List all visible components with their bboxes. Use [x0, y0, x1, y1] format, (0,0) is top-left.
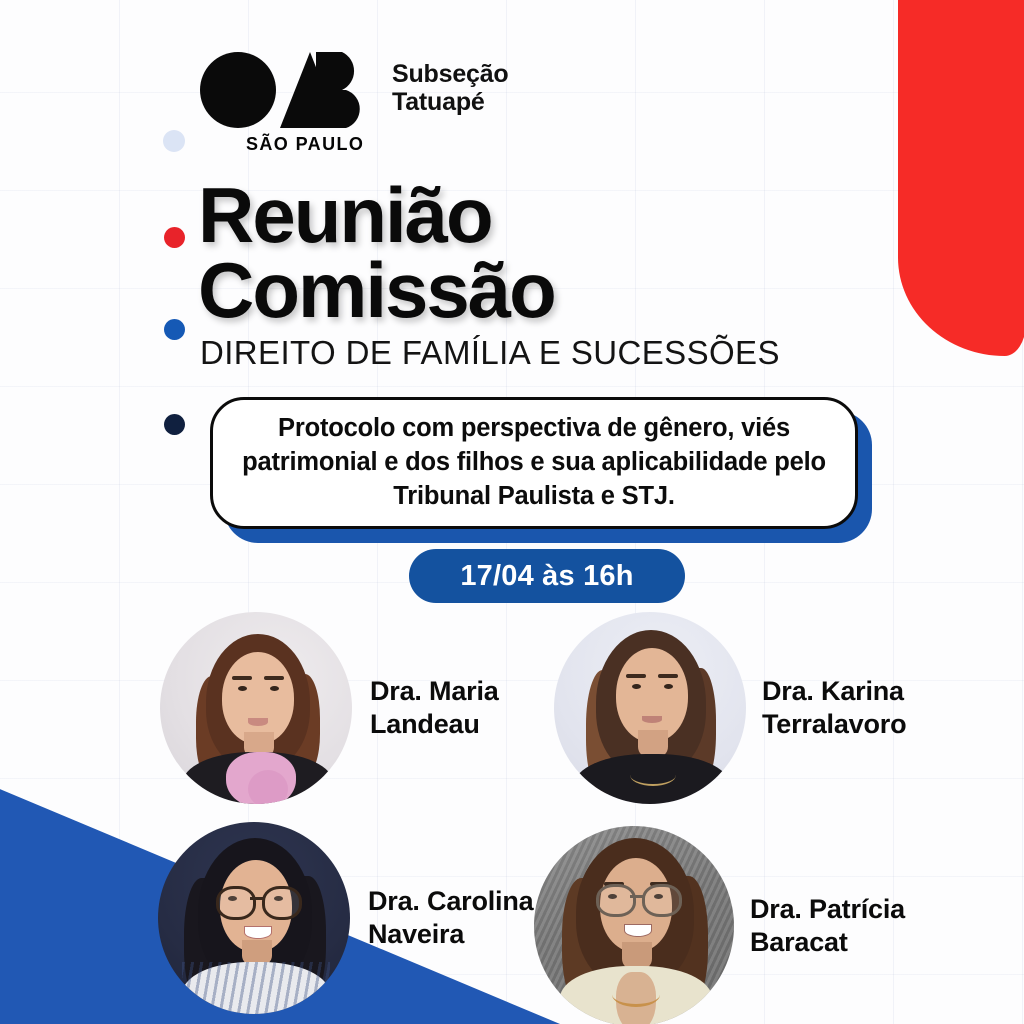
speaker-name-line-2: Terralavoro: [762, 708, 906, 741]
speaker-name-line-2: Baracat: [750, 926, 905, 959]
speaker-name-line-2: Landeau: [370, 708, 499, 741]
avatar: [158, 822, 350, 1014]
avatar: [160, 612, 352, 804]
page-subtitle: DIREITO DE FAMÍLIA E SUCESSÕES: [200, 334, 780, 372]
red-corner-shape: [898, 0, 1024, 356]
title-line-1: Reunião: [198, 178, 555, 253]
subsection-line-1: Subseção: [392, 60, 509, 88]
speaker-name: Dra. Carolina Naveira: [368, 885, 533, 951]
speaker-name: Dra. Patrícia Baracat: [750, 893, 905, 959]
glasses-icon: [596, 884, 680, 911]
avatar: [534, 826, 734, 1024]
avatar: [554, 612, 746, 804]
date-badge: 17/04 às 16h: [409, 549, 685, 603]
protocol-box: Protocolo com perspectiva de gênero, vié…: [210, 397, 858, 529]
speaker-item: Dra. Patrícia Baracat: [534, 826, 905, 1024]
glasses-icon: [216, 886, 300, 914]
speaker-item: Dra. Carolina Naveira: [158, 822, 533, 1014]
bullet-dot-red: [164, 227, 185, 248]
speaker-name: Dra. Karina Terralavoro: [762, 675, 906, 741]
bullet-dot-navy: [164, 414, 185, 435]
speaker-name: Dra. Maria Landeau: [370, 675, 499, 741]
page-title: Reunião Comissão: [198, 178, 555, 328]
bullet-dot-pale: [163, 130, 185, 152]
logo-state-label: SÃO PAULO: [246, 134, 364, 155]
date-badge-label: 17/04 às 16h: [460, 560, 633, 593]
speaker-name-line-1: Dra. Karina: [762, 675, 906, 708]
bullet-dot-blue: [164, 319, 185, 340]
oab-logo: SÃO PAULO Subseção Tatuapé: [200, 48, 509, 132]
event-poster: SÃO PAULO Subseção Tatuapé Reunião Comis…: [0, 0, 1024, 1024]
speaker-item: Dra. Maria Landeau: [160, 612, 499, 804]
speaker-name-line-1: Dra. Patrícia: [750, 893, 905, 926]
subsection-line-2: Tatuapé: [392, 88, 509, 116]
speaker-name-line-1: Dra. Maria: [370, 675, 499, 708]
subsection-label: Subseção Tatuapé: [392, 60, 509, 116]
speaker-name-line-1: Dra. Carolina: [368, 885, 533, 918]
speaker-item: Dra. Karina Terralavoro: [554, 612, 906, 804]
speaker-name-line-2: Naveira: [368, 918, 533, 951]
protocol-text: Protocolo com perspectiva de gênero, vié…: [235, 412, 833, 514]
oab-logo-mark: SÃO PAULO: [200, 48, 372, 132]
title-line-2: Comissão: [198, 253, 555, 328]
